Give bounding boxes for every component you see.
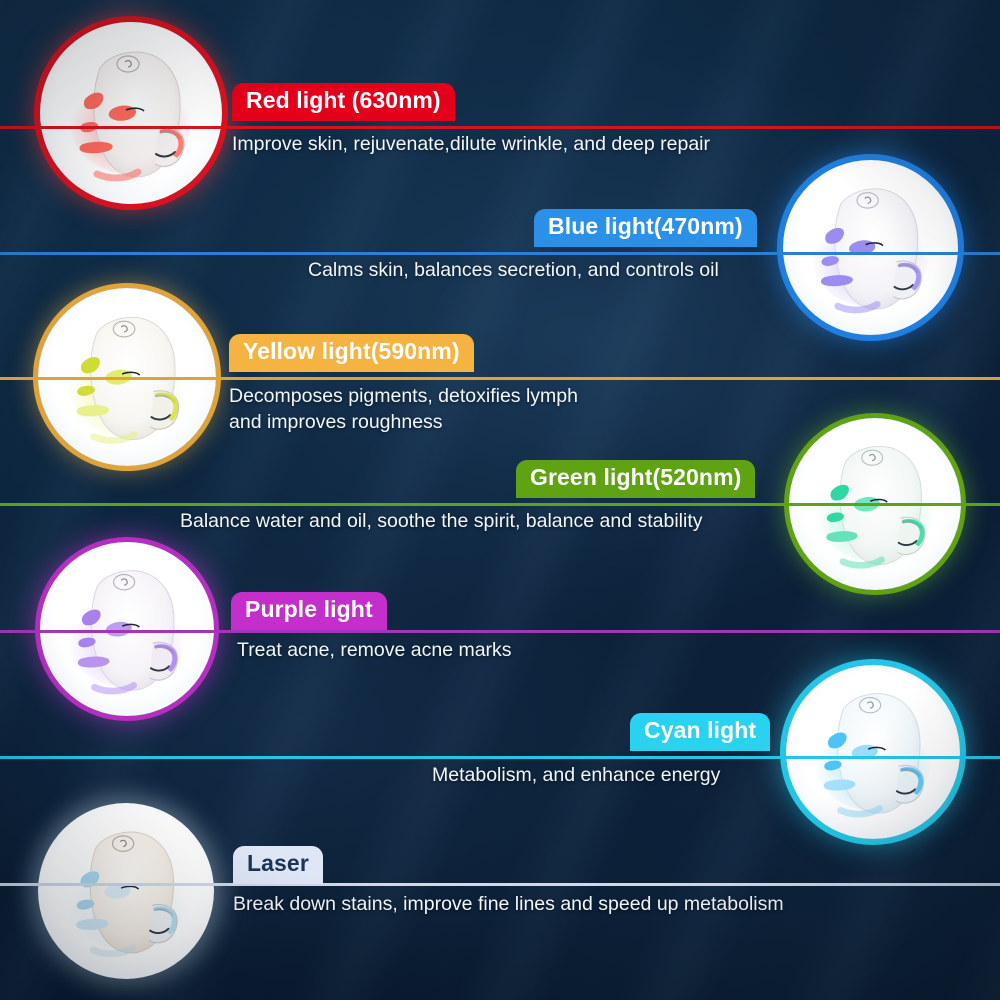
badge-green[interactable]: Green light(520nm) [516,460,755,498]
divider-purple [0,630,1000,633]
description-yellow: Decomposes pigments, detoxifies lymph an… [229,383,578,435]
divider-cyan [0,756,1000,759]
mask-photo-laser [38,803,214,979]
mask-illustration-purple [40,542,214,716]
mask-illustration-red [40,22,222,204]
page-title: LED Light Therapy Mask — Color Modes [0,0,1,1]
badge-purple[interactable]: Purple light [231,592,387,630]
mask-photo-blue [783,160,958,335]
badge-blue[interactable]: Blue light(470nm) [534,209,757,247]
divider-red [0,126,1000,129]
description-blue: Calms skin, balances secretion, and cont… [308,257,719,283]
badge-laser[interactable]: Laser [233,846,323,884]
mask-photo-purple [40,542,214,716]
mask-illustration-cyan [786,665,960,839]
badge-cyan[interactable]: Cyan light [630,713,770,751]
divider-yellow [0,377,1000,380]
mask-illustration-blue [783,160,958,335]
divider-laser [0,883,1000,886]
description-red: Improve skin, rejuvenate,dilute wrinkle,… [232,131,710,157]
description-purple: Treat acne, remove acne marks [237,637,512,663]
mask-photo-red [40,22,222,204]
description-cyan: Metabolism, and enhance energy [432,762,720,788]
description-laser: Break down stains, improve fine lines an… [233,891,784,917]
description-green: Balance water and oil, soothe the spirit… [180,508,702,534]
divider-green [0,503,1000,506]
divider-blue [0,252,1000,255]
badge-yellow[interactable]: Yellow light(590nm) [229,334,474,372]
badge-red[interactable]: Red light (630nm) [232,83,455,121]
infographic-stage: Red light (630nm) Improve skin, rejuvena… [0,0,1000,1000]
mask-illustration-laser [38,803,214,979]
mask-photo-cyan [786,665,960,839]
